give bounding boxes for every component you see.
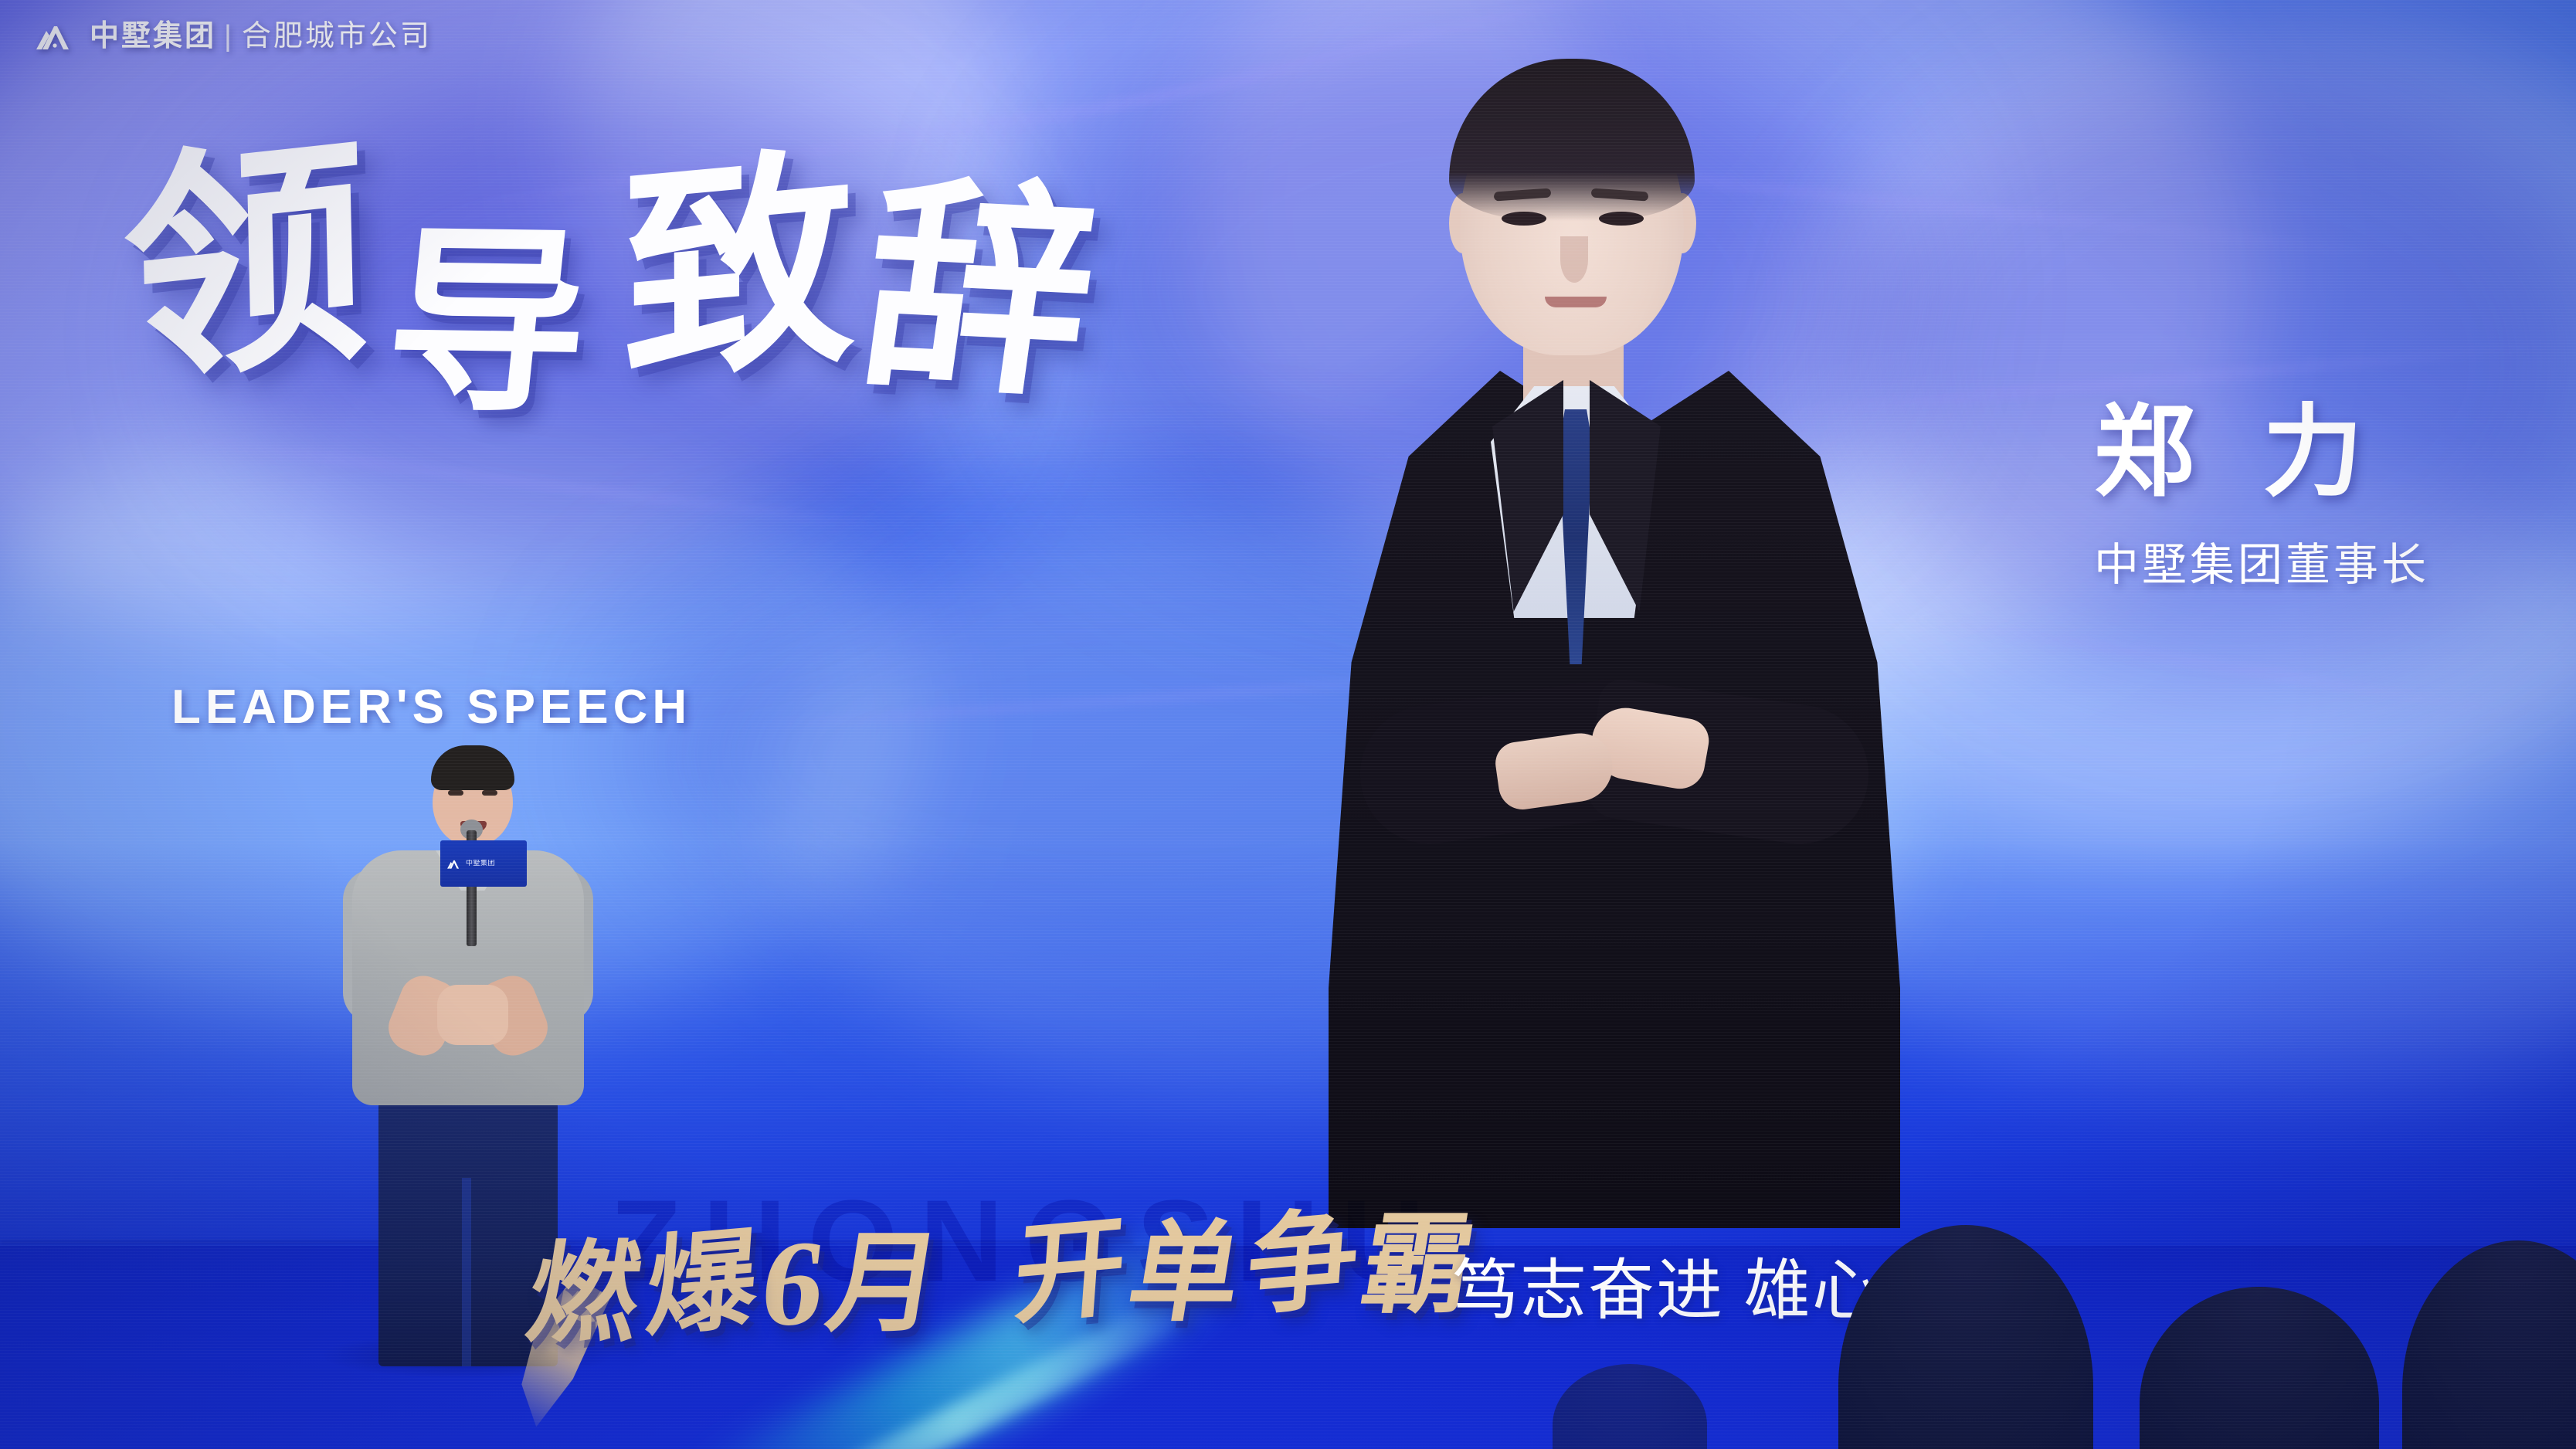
gold-calligraphy-slogan: 燃爆6月 开单争霸 xyxy=(521,1173,1490,1366)
portrait-eye-right xyxy=(1599,212,1644,226)
gold-char-1: 燃 xyxy=(518,1204,660,1363)
portrait-mouth xyxy=(1545,297,1607,307)
portrait-eye-left xyxy=(1502,212,1546,226)
brand-logo-lockup: 中墅集团|合肥城市公司 xyxy=(34,20,432,53)
calligraphy-char-4: 辞 xyxy=(852,183,1120,403)
live-speaker-eye-right xyxy=(482,790,497,796)
main-title-block: 领导致辞 xyxy=(131,154,1290,368)
calligraphy-char-3: 致 xyxy=(622,153,869,388)
mic-flag-label: 中墅集团 xyxy=(466,860,495,867)
brand-separator: | xyxy=(224,20,234,53)
gold-char-2: 爆 xyxy=(642,1189,770,1357)
live-speaker-eye-left xyxy=(448,790,463,796)
brand-branch: 合肥城市公司 xyxy=(242,20,432,53)
title-english-subtitle: LEADER'S SPEECH xyxy=(171,680,691,735)
mic-flag-logo-icon xyxy=(446,858,462,870)
portrait-nose xyxy=(1560,236,1588,283)
calligraphy-char-2: 导 xyxy=(378,232,608,418)
gold-char-5: 开 xyxy=(1010,1176,1138,1345)
portrait-hair xyxy=(1449,59,1695,221)
gold-char-month: 月 xyxy=(819,1193,960,1352)
calligraphy-char-1: 领 xyxy=(120,140,384,390)
speaker-name-block: 郑 力 中墅集团董事长 xyxy=(2094,402,2429,593)
live-speaker-hands xyxy=(437,985,508,1045)
chairman-portrait xyxy=(1313,46,1916,1228)
speaker-position: 中墅集团董事长 xyxy=(2094,528,2429,593)
gold-char-7: 争 xyxy=(1242,1168,1370,1336)
brand-text-group: 中墅集团|合肥城市公司 xyxy=(90,22,432,51)
gold-char-6: 单 xyxy=(1119,1183,1261,1342)
speaker-name: 郑 力 xyxy=(2094,402,2429,502)
live-speaker-leg-gap xyxy=(462,1178,471,1366)
stage-screenshot: 中墅集团|合肥城市公司 领导致辞 LEADER'S SPEECH 郑 力 中墅集… xyxy=(0,0,2576,1449)
microphone-flag: 中墅集团 xyxy=(440,840,527,887)
brand-name: 中墅集团 xyxy=(90,20,216,53)
calligraphy-title: 领导致辞 xyxy=(124,132,1296,389)
live-speaker-hair xyxy=(431,745,514,790)
mountain-house-logo-icon xyxy=(34,20,77,53)
